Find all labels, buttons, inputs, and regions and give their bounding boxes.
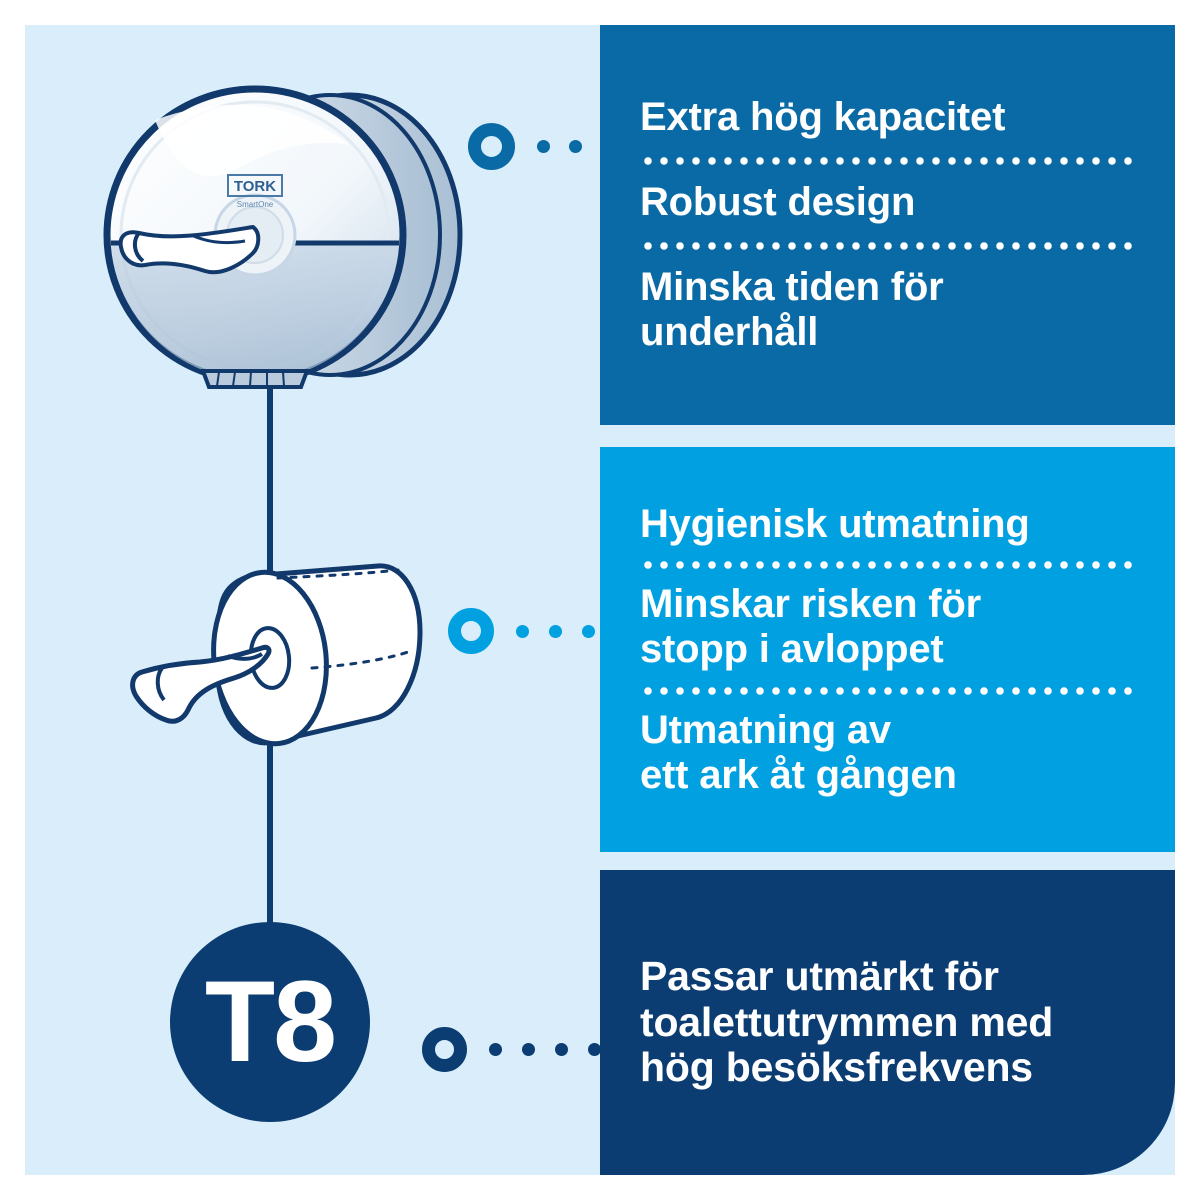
feature-item: Extra hög kapacitet <box>640 95 1135 140</box>
connector-dot <box>537 140 550 153</box>
feature-panel-hygiene: Hygienisk utmatning Minskar risken för s… <box>600 447 1175 852</box>
t8-system-badge: T8 <box>170 922 370 1122</box>
infographic-stage: TORK SmartOne <box>0 0 1200 1200</box>
feature-panel-capacity: Extra hög kapacitet Robust design Minska… <box>600 25 1175 425</box>
feature-divider <box>640 242 1135 250</box>
feature-item: Passar utmärkt för toalettutrymmen med h… <box>640 954 1135 1092</box>
feature-panel-suitability: Passar utmärkt för toalettutrymmen med h… <box>600 870 1175 1175</box>
spine-segment-roll-to-badge <box>267 760 273 935</box>
svg-text:TORK: TORK <box>234 178 276 195</box>
connector-dot <box>549 625 562 638</box>
feature-divider <box>640 561 1135 569</box>
t8-label: T8 <box>205 965 335 1080</box>
feature-item: Utmatning av ett ark åt gången <box>640 708 1135 798</box>
svg-text:SmartOne: SmartOne <box>237 200 274 209</box>
feature-divider <box>640 157 1135 165</box>
connector-dot <box>522 1043 535 1056</box>
feature-item: Hygienisk utmatning <box>640 502 1135 547</box>
feature-item: Robust design <box>640 180 1135 225</box>
connector-ring-icon <box>448 608 494 654</box>
connector-dot <box>582 625 595 638</box>
dispenser-vent <box>203 371 307 387</box>
connector-dot <box>516 625 529 638</box>
connector-dot <box>489 1043 502 1056</box>
connector-dot <box>555 1043 568 1056</box>
dispenser-illustration: TORK SmartOne <box>95 75 485 405</box>
toilet-roll-illustration <box>110 550 440 780</box>
connector-ring-icon <box>422 1027 467 1072</box>
connector-ring-icon <box>468 123 515 170</box>
feature-item: Minska tiden för underhåll <box>640 265 1135 355</box>
connector-dot <box>569 140 582 153</box>
feature-item: Minskar risken för stopp i avloppet <box>640 582 1135 672</box>
feature-divider <box>640 687 1135 695</box>
